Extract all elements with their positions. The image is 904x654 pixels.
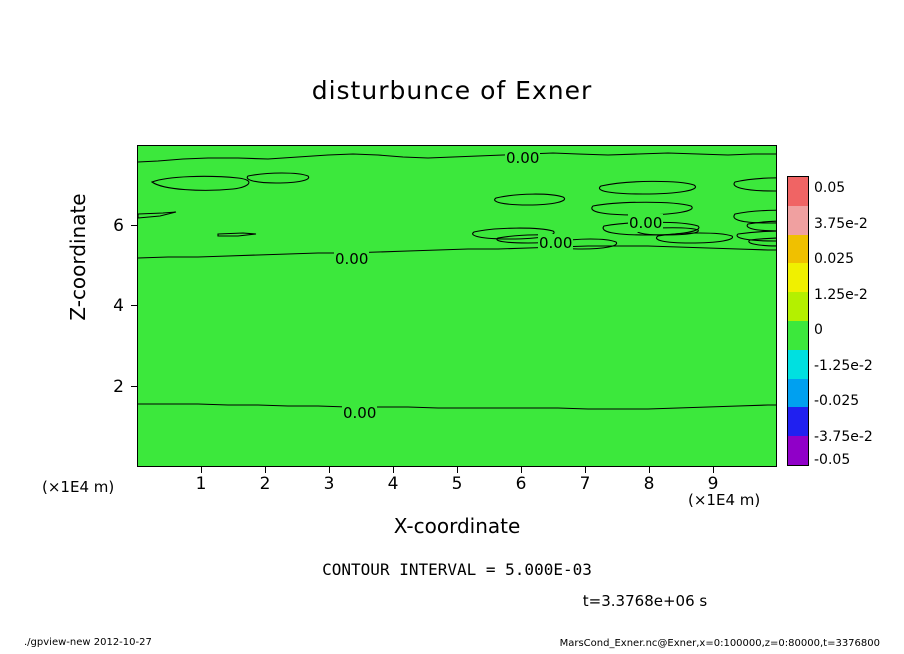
page-title: disturbunce of Exner	[0, 76, 904, 105]
colorbar	[787, 176, 809, 466]
colorbar-swatch	[788, 321, 808, 350]
colorbar-tick-label: 1.25e-2	[814, 287, 868, 303]
x-tick	[393, 467, 394, 473]
colorbar-tick-label: 0.025	[814, 251, 854, 267]
contour-label: 0.00	[628, 214, 663, 232]
time-stamp: t=3.3768e+06 s	[500, 592, 790, 610]
colorbar-swatch	[788, 350, 808, 379]
colorbar-tick-label: 0.05	[814, 180, 845, 196]
y-tick-label: 2	[100, 377, 124, 397]
contour-label: 0.00	[505, 149, 540, 167]
contour-label: 0.00	[342, 404, 377, 422]
x-unit-right-label: (×1E4 m)	[688, 491, 760, 509]
colorbar-swatch	[788, 407, 808, 436]
x-tick-label: 4	[378, 474, 408, 494]
y-tick	[131, 386, 137, 387]
y-tick-label: 6	[100, 216, 124, 236]
colorbar-tick-label: -0.05	[814, 452, 850, 468]
colorbar-tick-label: -3.75e-2	[814, 429, 873, 445]
colorbar-tick-label: 3.75e-2	[814, 216, 868, 232]
x-tick	[329, 467, 330, 473]
colorbar-tick-label: 0	[814, 322, 823, 338]
x-tick-label: 5	[442, 474, 472, 494]
colorbar-tick-label: -0.025	[814, 393, 859, 409]
x-tick-label: 8	[634, 474, 664, 494]
x-tick	[649, 467, 650, 473]
contour-label: 0.00	[538, 234, 573, 252]
colorbar-swatch	[788, 235, 808, 264]
colorbar-swatch	[788, 292, 808, 321]
colorbar-tick-label: -1.25e-2	[814, 358, 873, 374]
x-tick	[265, 467, 266, 473]
x-tick-label: 7	[570, 474, 600, 494]
x-unit-left-label: (×1E4 m)	[42, 478, 114, 496]
y-axis-label: Z-coordinate	[66, 157, 90, 357]
contour-interval-text: CONTOUR INTERVAL = 5.000E-03	[137, 560, 777, 579]
contour-plot-area: 0.00 0.00 0.00 0.00 0.00	[137, 145, 777, 467]
x-tick	[585, 467, 586, 473]
contour-label: 0.00	[334, 250, 369, 268]
colorbar-swatch	[788, 436, 808, 465]
x-tick	[457, 467, 458, 473]
x-tick	[713, 467, 714, 473]
colorbar-swatch	[788, 379, 808, 408]
colorbar-swatch	[788, 177, 808, 206]
x-tick-label: 3	[314, 474, 344, 494]
x-tick-label: 6	[506, 474, 536, 494]
x-tick	[521, 467, 522, 473]
y-tick	[131, 305, 137, 306]
x-tick-label: 1	[186, 474, 216, 494]
colorbar-swatch	[788, 206, 808, 235]
colorbar-swatch	[788, 263, 808, 292]
y-tick-label: 4	[100, 296, 124, 316]
footer-right: MarsCond_Exner.nc@Exner,x=0:100000,z=0:8…	[560, 638, 880, 649]
x-axis-label: X-coordinate	[137, 514, 777, 538]
footer-left: ./gpview-new 2012-10-27	[24, 637, 152, 648]
x-tick	[201, 467, 202, 473]
x-tick-label: 2	[250, 474, 280, 494]
contour-lines	[138, 146, 777, 467]
y-tick	[131, 225, 137, 226]
